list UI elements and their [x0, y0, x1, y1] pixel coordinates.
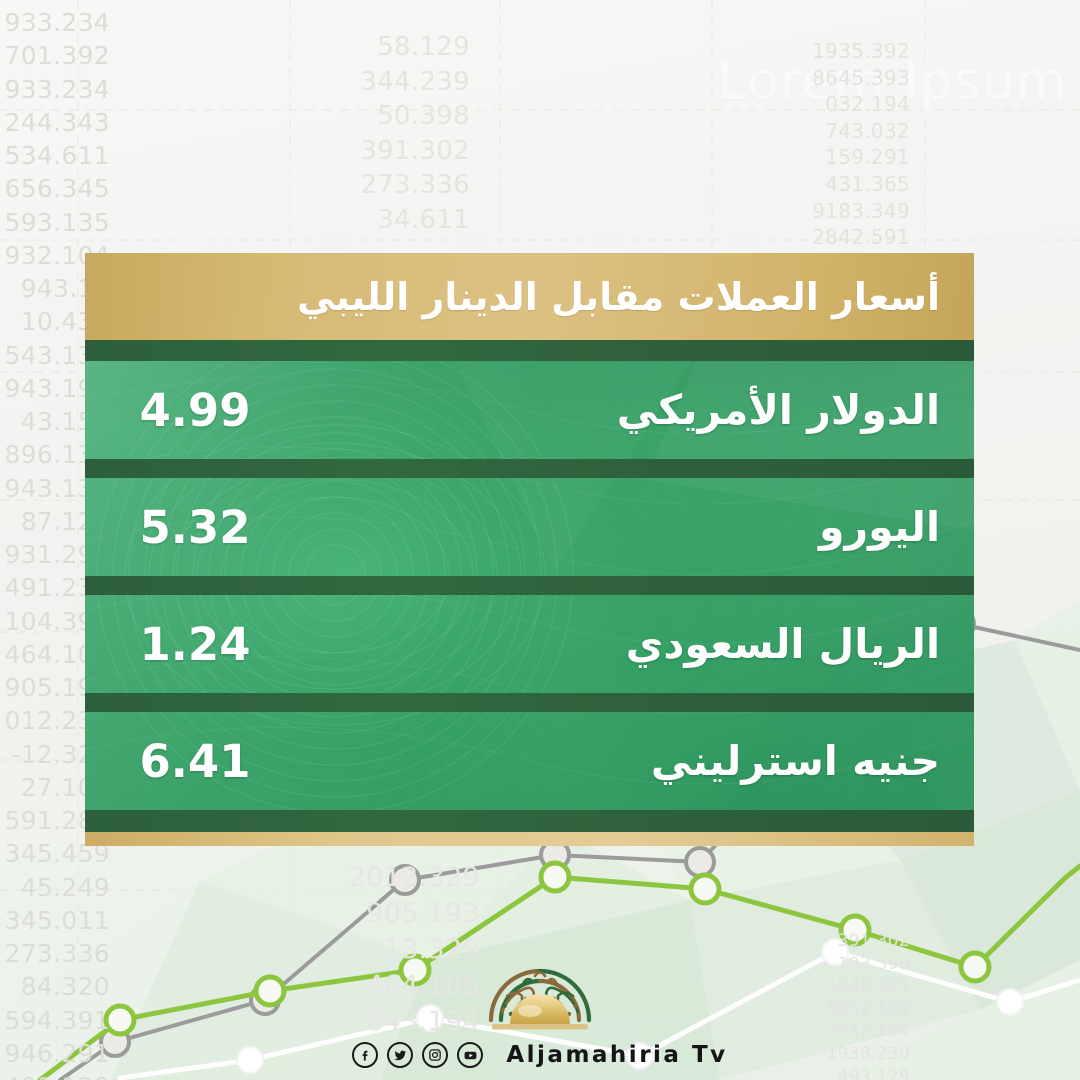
background-numbers-center-top: 58.129 344.239 50.398 391.302 273.336 34… — [330, 30, 470, 237]
row-separator-band — [85, 340, 974, 361]
row-separator-band — [85, 693, 974, 712]
currency-value: 4.99 — [125, 388, 265, 433]
row-separator-band — [85, 810, 974, 832]
currency-value: 1.24 — [125, 622, 265, 667]
card-footer-strip — [85, 832, 974, 846]
brand-name: Aljamahiria Tv — [506, 1042, 727, 1068]
currency-name: جنيه استرليني — [651, 741, 940, 782]
table-row[interactable]: اليورو 5.32 — [85, 478, 974, 576]
card-body: الدولار الأمريكي 4.99 اليورو 5.32 الريال… — [85, 340, 974, 832]
table-row[interactable]: جنيه استرليني 6.41 — [85, 712, 974, 810]
instagram-icon[interactable] — [422, 1042, 448, 1068]
aljamahiria-logo-icon — [445, 934, 635, 1039]
social-row: Aljamahiria Tv — [352, 1042, 727, 1068]
currency-name: اليورو — [819, 507, 940, 548]
table-row[interactable]: الدولار الأمريكي 4.99 — [85, 361, 974, 459]
table-row[interactable]: الريال السعودي 1.24 — [85, 595, 974, 693]
currency-value: 5.32 — [125, 505, 265, 550]
row-separator-band — [85, 459, 974, 478]
facebook-icon[interactable] — [352, 1042, 378, 1068]
currency-value: 6.41 — [125, 739, 265, 784]
twitter-icon[interactable] — [387, 1042, 413, 1068]
currency-name: الريال السعودي — [626, 624, 940, 665]
page-title: أسعار العملات مقابل الدينار الليبي — [297, 278, 940, 316]
currency-name: الدولار الأمريكي — [617, 390, 940, 431]
card-header: أسعار العملات مقابل الدينار الليبي — [85, 253, 974, 340]
brand-footer: Aljamahiria Tv — [0, 934, 1080, 1068]
currency-rates-card: أسعار العملات مقابل الدينار الليبي — [85, 253, 974, 846]
row-separator-band — [85, 576, 974, 595]
poster-canvas: Lorem Ipsum 933.234 701.392 933.234 244.… — [0, 0, 1080, 1080]
youtube-icon[interactable] — [457, 1042, 483, 1068]
